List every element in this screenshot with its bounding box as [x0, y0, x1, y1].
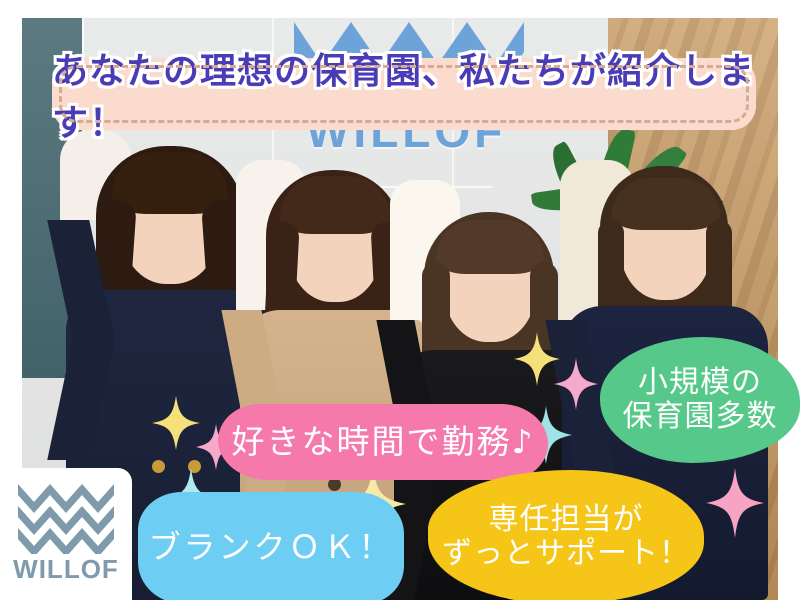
bubble-pink-text: 好きな時間で勤務♪ [231, 424, 534, 461]
headline-banner: あなたの理想の保育園、私たちが紹介します！ [52, 58, 756, 130]
willof-logo-text: WILLOF [0, 554, 132, 585]
bubble-green-line1: 小規模の [623, 366, 778, 400]
bubble-blue-text: ブランクＯＫ！ [148, 530, 393, 566]
fringe [436, 220, 544, 274]
advertisement-banner: WILLOF [0, 0, 800, 600]
bubble-dedicated-support: 専任担当が ずっとサポート！ [428, 470, 704, 600]
willof-logo-card: WILLOF [0, 468, 132, 600]
bubble-yellow-line1: 専任担当が [442, 503, 690, 537]
bubble-green-line2: 保育園多数 [623, 400, 778, 434]
sparkle-pink-mid [554, 358, 598, 410]
bubble-small-nurseries: 小規模の 保育園多数 [600, 337, 800, 463]
bubble-blank-ok: ブランクＯＫ！ [138, 492, 404, 600]
sparkle-yellow-left [152, 396, 200, 450]
fringe [612, 178, 720, 230]
bubble-yellow-line2: ずっとサポート！ [442, 537, 690, 571]
fringe [280, 176, 390, 234]
headline-text: あなたの理想の保育園、私たちが紹介します！ [52, 58, 756, 130]
sparkle-pink-right [706, 468, 764, 538]
willof-zigzag-icon [18, 482, 114, 554]
bubble-flexible-hours: 好きな時間で勤務♪ [218, 404, 548, 480]
